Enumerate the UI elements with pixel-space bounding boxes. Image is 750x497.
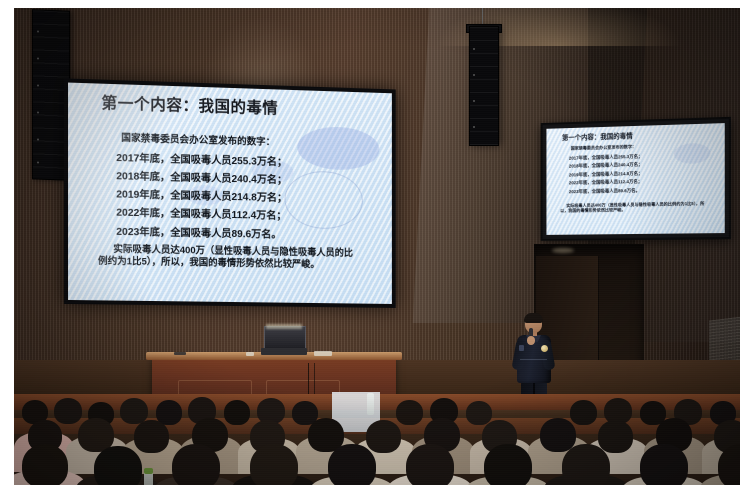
audience-head	[94, 446, 142, 485]
slide-stat-line: 2019年底，全国吸毒人员214.8万名；	[116, 186, 355, 206]
audience-head	[562, 444, 610, 485]
desk-paper	[314, 351, 332, 356]
presentation-slide: 第一个内容：我国的毒情 国家禁毒委员会办公室发布的数字： 2017年底，全国吸毒…	[68, 83, 392, 304]
audience-head	[54, 398, 82, 424]
main-projection-screen: 第一个内容：我国的毒情 国家禁毒委员会办公室发布的数字： 2017年底，全国吸毒…	[64, 78, 396, 308]
presenter-hand	[527, 336, 535, 345]
desk-remote	[174, 352, 186, 355]
audience-head	[570, 400, 597, 425]
wall-vent	[709, 315, 740, 366]
laptop-screen-glow	[266, 324, 302, 329]
audience-head	[22, 444, 68, 485]
audience-head	[466, 401, 492, 425]
uniform-belt-line	[520, 359, 547, 360]
line-array-speaker-center	[469, 26, 499, 146]
secondary-conclusion-paragraph: 实际吸毒人员达400万（显性吸毒人员与隐性吸毒人员的比例约为1比5），所以，我国…	[560, 200, 710, 213]
water-bottle	[367, 393, 374, 415]
bottle-cap	[144, 468, 153, 474]
secondary-slide-mirror: 第一个内容：我国的毒情 国家禁毒委员会办公室发布的数字： 2017年底，全国吸毒…	[546, 123, 724, 235]
audience-head	[328, 444, 376, 485]
audience-head	[224, 400, 250, 425]
secondary-slide-subtitle: 国家禁毒委员会办公室发布的数字：	[571, 144, 637, 152]
slide-stat-line: 2023年底，全国吸毒人员89.6万名。	[116, 222, 355, 242]
secondary-slide-title: 第一个内容：我国的毒情	[562, 130, 633, 142]
secondary-statistics-list: 2017年底，全国吸毒人员255.3万名； 2018年底，全国吸毒人员240.4…	[569, 151, 716, 197]
secondary-stat-line: 2018年底，全国吸毒人员240.4万名；	[569, 160, 716, 170]
audience-head	[396, 400, 423, 425]
uniform-shoulder-patch	[519, 345, 524, 351]
audience-head	[540, 418, 576, 452]
uniform-badge-icon	[541, 345, 548, 352]
slide-subtitle: 国家禁毒委员会办公室发布的数字：	[121, 130, 275, 148]
audience-head	[366, 420, 401, 453]
podium-cable	[314, 363, 315, 397]
audience-head	[598, 420, 633, 453]
secondary-stat-line: 2019年底，全国吸毒人员214.8万名；	[569, 169, 716, 178]
alcove-ceiling-light	[552, 248, 574, 253]
slide-stat-line: 2018年底，全国吸毒人员240.4万名；	[116, 167, 355, 188]
secondary-stat-line: 2022年底，全国吸毒人员112.4万名；	[569, 178, 716, 187]
audience-head	[134, 420, 169, 453]
lecture-hall-photo: 第一个内容：我国的毒情 国家禁毒委员会办公室发布的数字： 2017年底，全国吸毒…	[14, 8, 740, 485]
desk-device	[246, 352, 254, 356]
secondary-stat-line: 2023年底，全国吸毒人员89.6万名。	[569, 186, 716, 195]
audience-head	[484, 444, 532, 485]
photograph-frame: 第一个内容：我国的毒情 国家禁毒委员会办公室发布的数字： 2017年底，全国吸毒…	[0, 0, 750, 497]
slide-title: 第一个内容：我国的毒情	[101, 91, 278, 119]
audience-head	[172, 444, 220, 485]
slide-statistics-list: 2017年底，全国吸毒人员255.3万名； 2018年底，全国吸毒人员240.4…	[116, 149, 355, 245]
secondary-display-screen: 第一个内容：我国的毒情 国家禁毒委员会办公室发布的数字： 2017年底，全国吸毒…	[541, 117, 731, 241]
audience-head	[406, 444, 454, 485]
audience-head	[250, 444, 298, 485]
slide-stat-line: 2022年底，全国吸毒人员112.4万名；	[116, 204, 355, 224]
podium-laptop-base	[261, 348, 307, 355]
audience-head	[640, 444, 688, 485]
slide-conclusion-paragraph: 实际吸毒人员达400万（显性吸毒人员与隐性吸毒人员的比例约为1比5），所以，我国…	[98, 243, 357, 271]
presenter-hair	[524, 313, 543, 323]
